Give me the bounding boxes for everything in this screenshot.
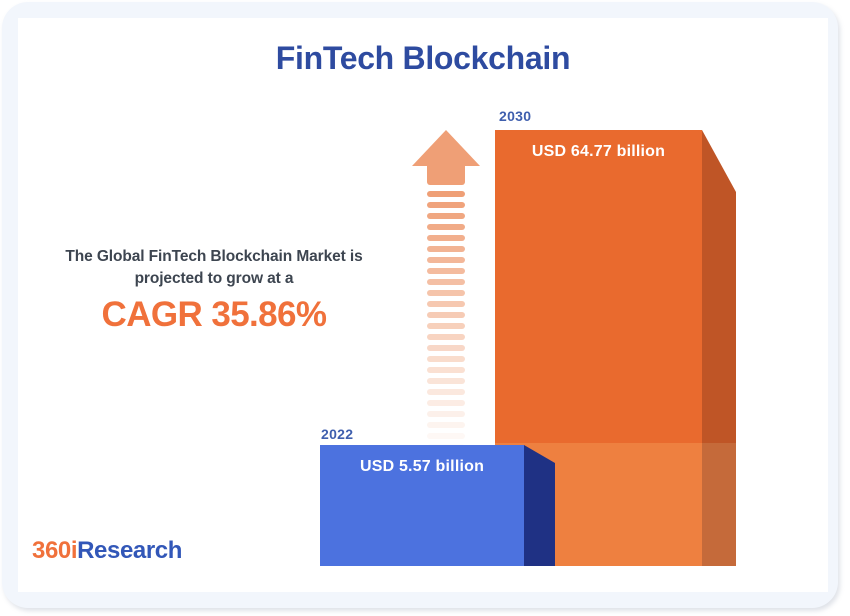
arrow-shaft-segment [427, 422, 465, 428]
arrow-shaft-segment [427, 257, 465, 263]
arrow-shaft-segment [427, 213, 465, 219]
arrow-shaft-segment [427, 334, 465, 340]
arrow-shaft-segment [427, 191, 465, 197]
brand-logo-part-1: 360i [32, 537, 77, 564]
bar-base-year-label: 2022 [321, 426, 353, 442]
arrow-shaft-segment [427, 411, 465, 417]
arrow-shaft-segment [427, 290, 465, 296]
annotation-line-1: The Global FinTech Blockchain Market is [24, 246, 404, 268]
arrow-shaft-segment [427, 235, 465, 241]
annotation-block: The Global FinTech Blockchain Market is … [24, 246, 404, 335]
arrow-shaft-segment [427, 378, 465, 384]
arrow-shaft-segment [427, 356, 465, 362]
arrow-shaft-segments [427, 191, 465, 455]
arrow-shaft-segment [427, 389, 465, 395]
bar-forecast-year-label: 2030 [499, 108, 531, 124]
brand-logo: 360iResearch [32, 537, 182, 565]
bar-forecast-overlap-side [702, 443, 736, 566]
arrow-shaft-segment [427, 301, 465, 307]
arrow-shaft-segment [427, 224, 465, 230]
cagr-value: CAGR 35.86% [24, 296, 404, 335]
arrow-shaft-segment [427, 400, 465, 406]
brand-logo-part-2: Research [77, 537, 182, 564]
arrow-shaft-segment [427, 433, 465, 439]
arrow-shaft-segment [427, 246, 465, 252]
arrow-shaft-segment [427, 323, 465, 329]
annotation-line-2: projected to grow at a [24, 268, 404, 290]
bar-base-value-label: USD 5.57 billion [320, 458, 524, 476]
arrow-shaft-segment [427, 202, 465, 208]
arrow-shaft-segment [427, 268, 465, 274]
arrow-head-icon [412, 130, 480, 166]
arrow-shaft-segment [427, 367, 465, 373]
infographic-root: FinTech Blockchain The Global FinTech Bl… [0, 0, 850, 616]
growth-arrow-icon [412, 130, 480, 430]
bar-base-side [524, 445, 555, 566]
infographic-card: FinTech Blockchain The Global FinTech Bl… [18, 18, 828, 592]
arrow-shaft-segment [427, 345, 465, 351]
arrow-shaft-segment [427, 312, 465, 318]
bar-forecast-value-label: USD 64.77 billion [495, 143, 702, 161]
arrow-shaft-segment [427, 279, 465, 285]
arrow-neck [427, 166, 465, 185]
page-title: FinTech Blockchain [18, 40, 828, 77]
